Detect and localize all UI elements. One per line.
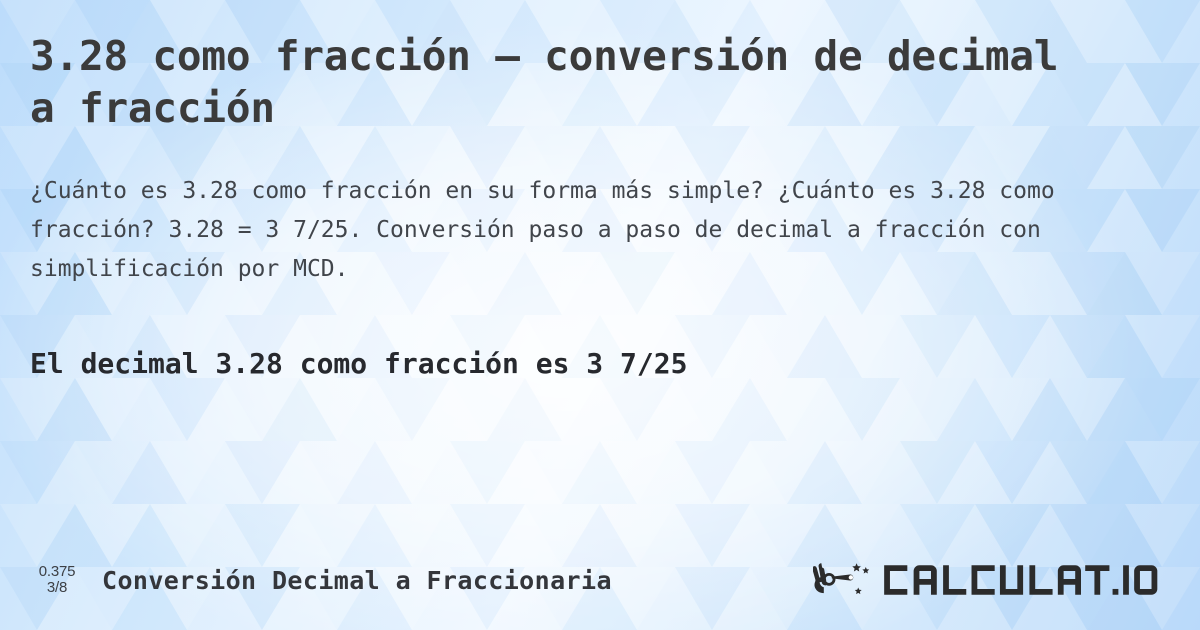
decimal-fraction-icon-fraction: 3/8	[47, 580, 67, 596]
open-graph-card: 3.28 como fracción – conversión de decim…	[0, 0, 1200, 630]
hand-holding-magic-wand-icon	[813, 558, 875, 602]
answer-statement: El decimal 3.28 como fracción es 3 7/25	[30, 345, 687, 383]
footer-bar: 0.375 3/8 Conversión Decimal a Fracciona…	[0, 552, 1200, 608]
decimal-fraction-icon: 0.375 3/8	[26, 564, 88, 596]
card-content: 3.28 como fracción – conversión de decim…	[0, 0, 1200, 630]
decimal-fraction-icon-decimal: 0.375	[39, 564, 76, 580]
calculatio-wordmark: CALCULAT.IO	[881, 560, 1176, 600]
footer-left-group: 0.375 3/8 Conversión Decimal a Fracciona…	[26, 564, 612, 596]
lede-description: ¿Cuánto es 3.28 como fracción en su form…	[30, 172, 1105, 289]
footer-label: Conversión Decimal a Fraccionaria	[102, 566, 612, 595]
brand-logo[interactable]: CALCULAT.IO	[813, 558, 1176, 602]
page-title: 3.28 como fracción – conversión de decim…	[30, 30, 1090, 134]
